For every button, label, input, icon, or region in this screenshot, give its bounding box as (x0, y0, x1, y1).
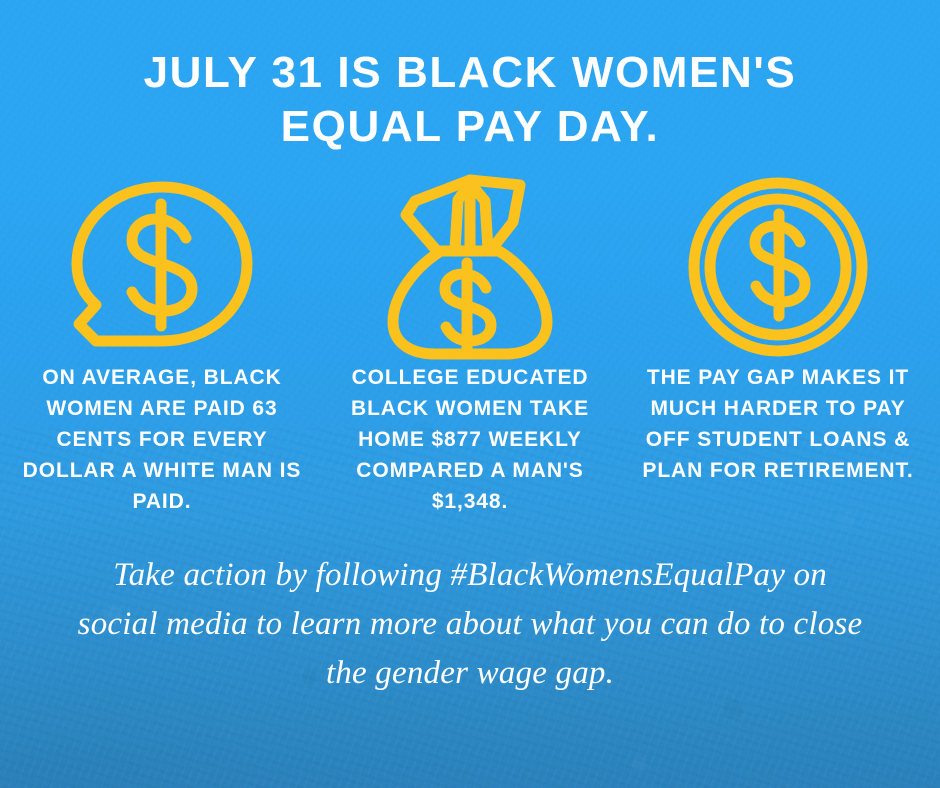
money-bag-dollar-icon (375, 172, 565, 362)
stat-text: COLLEGE EDUCATED BLACK WOMEN TAKE HOME $… (316, 362, 624, 517)
stat-text: THE PAY GAP MAKES IT MUCH HARDER TO PAY … (624, 362, 932, 486)
call-to-action-text: Take action by following #BlackWomensEqu… (75, 551, 865, 698)
speech-bubble-dollar-icon (62, 172, 262, 362)
stat-text: ON AVERAGE, BLACK WOMEN ARE PAID 63 CENT… (8, 362, 316, 517)
page-title: JULY 31 IS BLACK WOMEN'S EQUAL PAY DAY. (0, 0, 940, 154)
stat-column-student-loans: THE PAY GAP MAKES IT MUCH HARDER TO PAY … (624, 172, 932, 486)
stats-row: ON AVERAGE, BLACK WOMEN ARE PAID 63 CENT… (0, 154, 940, 517)
infographic-poster: JULY 31 IS BLACK WOMEN'S EQUAL PAY DAY. … (0, 0, 940, 788)
coin-dollar-icon (683, 172, 873, 362)
stat-column-weekly-pay: COLLEGE EDUCATED BLACK WOMEN TAKE HOME $… (316, 172, 624, 517)
stat-column-wage-gap-cents: ON AVERAGE, BLACK WOMEN ARE PAID 63 CENT… (8, 172, 316, 517)
